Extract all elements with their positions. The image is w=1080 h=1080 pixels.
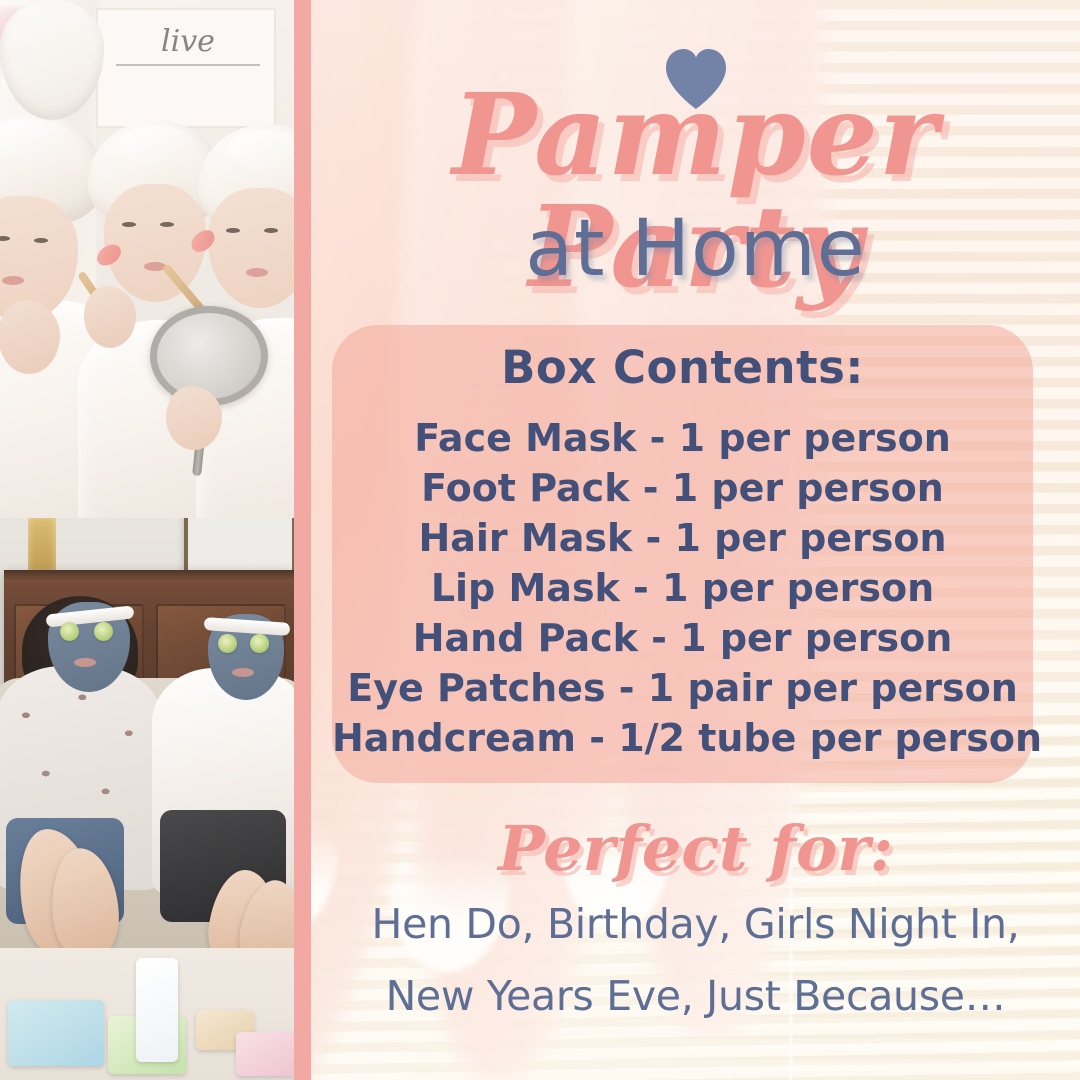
sheet-mask-pack <box>8 1000 104 1066</box>
pink-divider-bar <box>294 0 311 1080</box>
list-item: Face Mask - 1 per person <box>332 413 1033 463</box>
photo-column: live <box>0 0 294 1080</box>
list-item: Hand Pack - 1 per person <box>332 613 1033 663</box>
occasions-line: New Years Eve, Just Because… <box>311 960 1080 1032</box>
handcream-tube <box>136 958 178 1062</box>
content-column: Pamper Party at Home Box Contents: Face … <box>311 0 1080 1080</box>
pamper-party-poster: live <box>0 0 1080 1080</box>
box-contents-list: Face Mask - 1 per person Foot Pack - 1 p… <box>332 413 1033 763</box>
three-women-face-masks-photo: live <box>0 0 294 518</box>
list-item: Lip Mask - 1 per person <box>332 563 1033 613</box>
picture-frame <box>184 518 294 576</box>
two-women-clay-masks-sofa-photo <box>0 518 294 1080</box>
wall-art-text: live <box>118 24 258 59</box>
list-item: Eye Patches - 1 pair per person <box>332 663 1033 713</box>
product-item <box>236 1032 294 1076</box>
page-subtitle: at Home <box>311 210 1080 288</box>
list-item: Hair Mask - 1 per person <box>332 513 1033 563</box>
list-item: Handcream - 1/2 tube per person <box>332 713 1033 763</box>
box-contents-panel: Box Contents: Face Mask - 1 per person F… <box>332 325 1033 783</box>
occasions-line: Hen Do, Birthday, Girls Night In, <box>311 888 1080 960</box>
occasions-list: Hen Do, Birthday, Girls Night In, New Ye… <box>311 888 1080 1032</box>
perfect-for-heading: Perfect for: <box>311 818 1080 880</box>
list-item: Foot Pack - 1 per person <box>332 463 1033 513</box>
box-contents-heading: Box Contents: <box>332 341 1033 394</box>
table-lamp <box>28 518 56 572</box>
